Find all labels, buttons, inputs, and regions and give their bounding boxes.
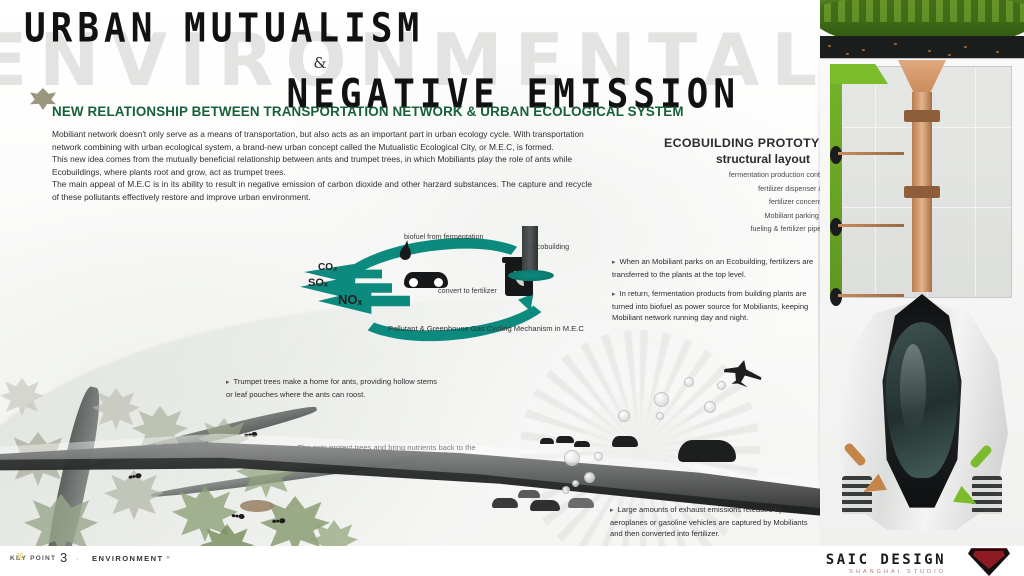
canopy-foliage-texture xyxy=(820,0,1024,22)
mobiliant-vehicle-render xyxy=(836,300,1008,530)
gas-label-co2: CO₂ xyxy=(318,262,337,273)
section-heading: NEW RELATIONSHIP BETWEEN TRANSPORTATION … xyxy=(52,104,684,119)
bullet-mobiliant-parks: ▸When an Mobiliant parks on an Ecobuildi… xyxy=(612,256,826,280)
callout-row: fueling & fertilizer pipelines xyxy=(628,224,840,238)
bullet-text: Large amounts of exhaust emissions relea… xyxy=(610,505,808,538)
title-block: URBAN MUTUALISM & NEGATIVE EMISSION xyxy=(0,8,780,112)
bubble-icon xyxy=(572,480,579,487)
cycle-caption: Pollutant & Greenhouse Gas Cycling Mecha… xyxy=(388,324,584,333)
ecobuilding-title-text: ECOBUILDING PROTOTYPE xyxy=(664,136,837,150)
crest-glyph: 英 xyxy=(10,554,30,568)
bubble-icon xyxy=(654,392,669,407)
pollutant-gas-group: CO₂ SOₓ NOₓ xyxy=(300,258,420,318)
bullet-marker-icon: ▸ xyxy=(226,379,230,386)
cycle-label-ecobuilding: Ecobuilding xyxy=(532,242,569,251)
bubble-icon xyxy=(684,377,694,387)
brand-name: SAIC DESIGN xyxy=(826,552,946,568)
bullet-marker-icon: ▸ xyxy=(612,291,616,298)
intro-body-copy: Mobiliant network doesn't only serve as … xyxy=(52,128,592,204)
car-silhouette xyxy=(612,436,638,447)
fertilizer-pipeline xyxy=(838,152,904,155)
car-silhouette xyxy=(568,498,594,508)
callout-row: fermentation production container xyxy=(628,170,840,184)
gas-cycle-diagram: CO₂ SOₓ NOₓ biofuel from fermentation Ec… xyxy=(300,228,600,340)
ecobuilding-subtitle: structural layout xyxy=(716,152,810,166)
bubble-icon xyxy=(564,450,580,466)
cycle-label-biofuel: biofuel from fermentation xyxy=(404,232,484,241)
ecobuilding-callout-list: fermentation production container fertil… xyxy=(628,170,840,238)
callout-row: fertilizer concentrator xyxy=(628,197,840,211)
car-silhouette xyxy=(492,498,518,508)
bullet-trumpet-trees: ▸Trumpet trees make a home for ants, pro… xyxy=(226,376,438,400)
bubble-icon xyxy=(618,410,630,422)
leaf-pouch-shape xyxy=(240,500,274,512)
callout-row: Mobiliant parking dock xyxy=(628,211,840,225)
mobiliant-parking-dock xyxy=(826,144,848,166)
intro-paragraph-3: The main appeal of M.E.C is in its abili… xyxy=(52,178,592,203)
fertilizer-pipeline xyxy=(838,224,904,227)
trunk-joint xyxy=(904,110,940,122)
brand-lockup: SAIC DESIGN SHANGHAI STUDIO xyxy=(826,552,946,575)
bullet-marker-icon: ▸ xyxy=(612,259,616,266)
ecobuilding-illustration-panel xyxy=(820,0,1024,546)
gas-label-nox: NOₓ xyxy=(338,292,362,307)
intro-paragraph-1: Mobiliant network doesn't only serve as … xyxy=(52,128,592,153)
bullet-exhaust-emissions: ▸Large amounts of exhaust emissions rele… xyxy=(610,504,810,540)
car-silhouette xyxy=(540,438,554,444)
vehicle-glass-dome xyxy=(886,322,958,478)
title-line-1: URBAN MUTUALISM xyxy=(0,8,780,50)
bullet-text: In return, fermentation products from bu… xyxy=(612,289,808,322)
cycle-label-convert: convert to fertilizer xyxy=(438,286,497,295)
car-silhouette xyxy=(518,490,540,498)
bullet-text: Trumpet trees make a home for ants, prov… xyxy=(226,377,437,399)
brand-crest-icon xyxy=(968,548,1010,576)
bubble-icon xyxy=(656,412,664,420)
bubble-icon xyxy=(704,401,716,413)
bullet-marker-icon: ▸ xyxy=(610,507,614,514)
fertilizer-pipeline xyxy=(838,294,904,297)
bullet-text: When an Mobiliant parks on an Ecobuildin… xyxy=(612,257,813,279)
bullet-fermentation-return: ▸In return, fermentation products from b… xyxy=(612,288,826,324)
car-silhouette xyxy=(574,441,590,447)
callout-row: fertilizer dispenser & soil xyxy=(628,184,840,198)
car-silhouette xyxy=(678,440,736,462)
bubble-icon xyxy=(562,486,570,494)
footer-page-number: 3 xyxy=(60,550,67,565)
ecobuilding-base-icon xyxy=(508,270,554,281)
car-silhouette xyxy=(530,500,560,511)
footer-section-label: ENVIRONMENT xyxy=(92,554,164,563)
footer-dot-right: · xyxy=(76,556,78,563)
vertical-green-rail xyxy=(830,70,842,298)
footer-bar: KEY POINT · 3 · ENVIRONMENT ››› SAIC DES… xyxy=(0,546,1024,576)
title-ampersand: & xyxy=(0,54,640,72)
intro-paragraph-2: This new idea comes from the mutually be… xyxy=(52,153,592,178)
mobiliant-parking-dock xyxy=(826,216,848,238)
bubble-icon xyxy=(717,381,726,390)
presentation-board: ENVIRONMENTAL URBAN MUTUALISM & NEGATIVE… xyxy=(0,0,1024,576)
brand-studio: SHANGHAI STUDIO xyxy=(826,569,946,575)
gas-label-sox: SOₓ xyxy=(308,277,328,289)
footer-dot-left: · xyxy=(52,556,54,563)
car-silhouette xyxy=(556,436,574,443)
bubble-icon xyxy=(594,452,603,461)
footer-chevrons-icon: ››› xyxy=(166,555,169,561)
trunk-joint xyxy=(904,186,940,198)
bubble-icon xyxy=(584,472,595,483)
